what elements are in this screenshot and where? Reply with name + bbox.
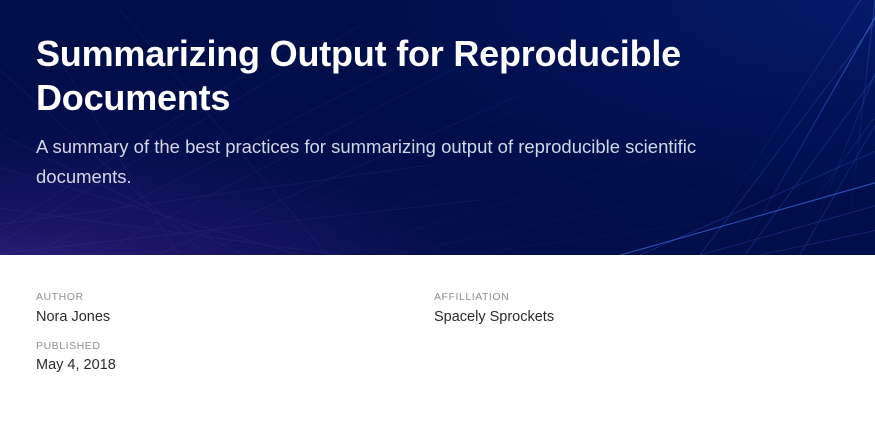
author-label: AUTHOR [36,289,434,306]
document-page: Summarizing Output for Reproducible Docu… [0,0,875,432]
page-title: Summarizing Output for Reproducible Docu… [36,32,736,120]
affiliation-label: AFFILLIATION [434,289,834,306]
published-label: PUBLISHED [36,338,434,355]
metadata-column-author: AUTHOR Nora Jones PUBLISHED May 4, 2018 [36,289,434,377]
affiliation-value: Spacely Sprockets [434,307,834,329]
document-metadata: AUTHOR Nora Jones PUBLISHED May 4, 2018 … [0,255,875,377]
banner-content: Summarizing Output for Reproducible Docu… [0,0,875,192]
metadata-column-affiliation: AFFILLIATION Spacely Sprockets [434,289,834,329]
published-value: May 4, 2018 [36,355,434,377]
author-value: Nora Jones [36,307,434,329]
page-subtitle: A summary of the best practices for summ… [36,132,796,192]
title-banner: Summarizing Output for Reproducible Docu… [0,0,875,255]
